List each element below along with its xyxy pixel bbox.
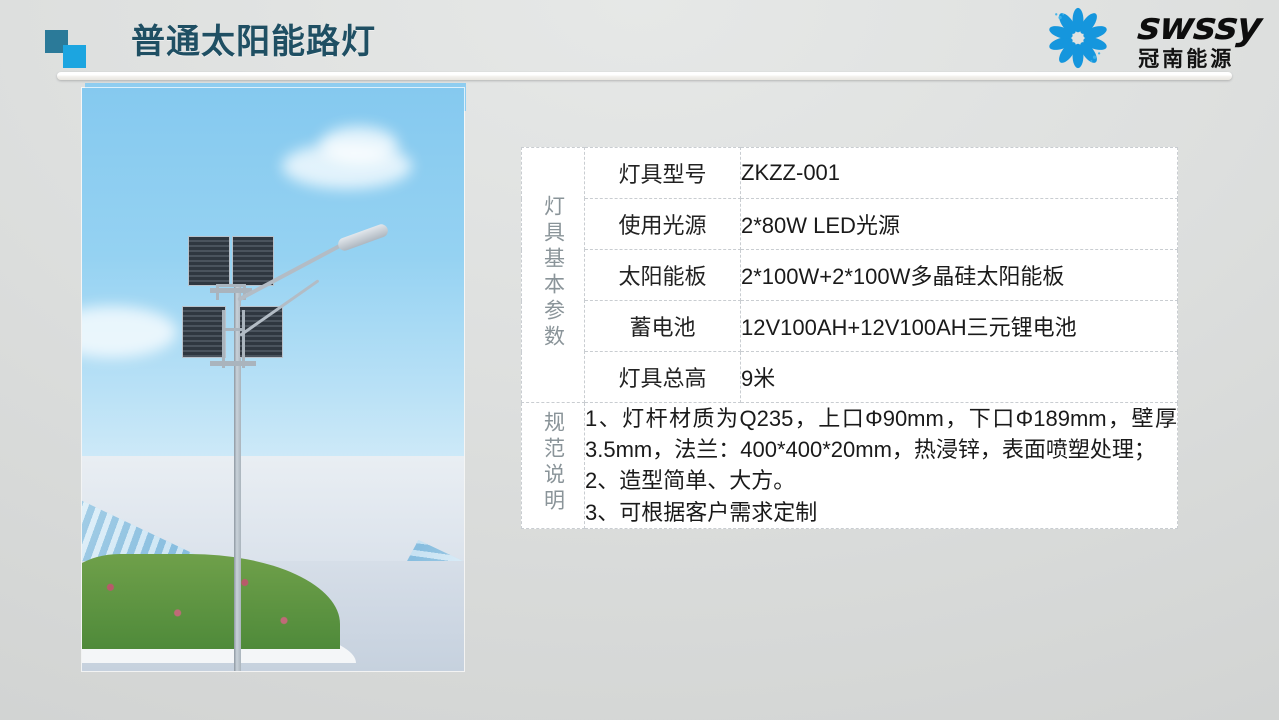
photo-sky: [82, 88, 464, 508]
photo-solar-panel: [188, 236, 230, 286]
page-title: 普通太阳能路灯: [131, 20, 376, 64]
swssy-petal-flower-icon: [1026, 6, 1130, 70]
row-key: 太阳能板: [585, 250, 741, 301]
photo-cloud: [320, 126, 398, 164]
table-row: 蓄电池 12V100AH+12V100AH三元锂电池: [522, 301, 1178, 352]
row-value: ZKZZ-001: [741, 148, 1178, 199]
logo-wordmark: swssy: [1136, 7, 1263, 45]
table-row-notes: 规范说明 1、灯杆材质为Q235，上口Φ90mm，下口Φ189mm，壁厚3.5m…: [522, 403, 1178, 529]
row-key: 蓄电池: [585, 301, 741, 352]
table-row: 太阳能板 2*100W+2*100W多晶硅太阳能板: [522, 250, 1178, 301]
product-photo: [82, 88, 464, 671]
section-label-basic-params: 灯具基本参数: [522, 148, 585, 403]
title-divider: [57, 72, 1232, 80]
row-value: 9米: [741, 352, 1178, 403]
row-key: 灯具型号: [585, 148, 741, 199]
row-key: 使用光源: [585, 199, 741, 250]
brand-logo: swssy 冠南能源: [1026, 5, 1261, 71]
table-row: 灯具总高 9米: [522, 352, 1178, 403]
spec-note: 2、造型简单、大方。: [585, 465, 1177, 496]
decor-square-light: [63, 45, 86, 68]
photo-panel-bracket: [222, 328, 242, 331]
photo-solar-panel: [182, 306, 226, 358]
row-value: 2*100W+2*100W多晶硅太阳能板: [741, 250, 1178, 301]
slide-canvas: 普通太阳能路灯: [0, 0, 1279, 720]
logo-text-block: swssy 冠南能源: [1138, 7, 1261, 70]
row-key: 灯具总高: [585, 352, 741, 403]
row-value: 2*80W LED光源: [741, 199, 1178, 250]
photo-panel-bracket: [216, 284, 246, 287]
section-label-spec-notes: 规范说明: [522, 403, 585, 529]
photo-panel-bracket: [222, 310, 225, 368]
spec-note: 3、可根据客户需求定制: [585, 497, 1177, 528]
photo-solar-panel: [232, 236, 274, 286]
logo-chinese-name: 冠南能源: [1138, 49, 1261, 70]
photo-panel-bracket: [242, 310, 245, 368]
table-row: 灯具基本参数 灯具型号 ZKZZ-001: [522, 148, 1178, 199]
table-row: 使用光源 2*80W LED光源: [522, 199, 1178, 250]
photo-panel-bracket: [210, 361, 256, 366]
spec-note: 1、灯杆材质为Q235，上口Φ90mm，下口Φ189mm，壁厚3.5mm，法兰：…: [585, 403, 1177, 465]
row-value: 12V100AH+12V100AH三元锂电池: [741, 301, 1178, 352]
spec-table: 灯具基本参数 灯具型号 ZKZZ-001 使用光源 2*80W LED光源 太阳…: [521, 147, 1178, 529]
spec-notes-cell: 1、灯杆材质为Q235，上口Φ90mm，下口Φ189mm，壁厚3.5mm，法兰：…: [585, 403, 1178, 529]
